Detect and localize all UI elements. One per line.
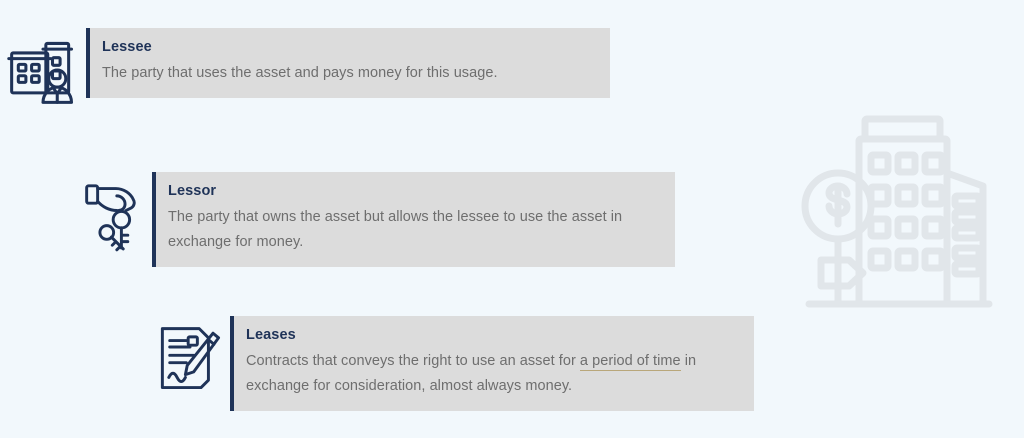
hand-holding-keys-icon bbox=[83, 177, 147, 255]
leases-title: Leases bbox=[246, 326, 740, 346]
contract-document-with-pen-icon bbox=[155, 322, 225, 396]
entry-leases: Leases Contracts that conveys the right … bbox=[150, 316, 754, 411]
lessee-description: The party that uses the asset and pays m… bbox=[102, 61, 498, 86]
lessor-icon-wrap bbox=[78, 172, 152, 260]
office-building-with-dollar-sign-icon bbox=[795, 108, 1010, 313]
lessee-card-body: Lessee The party that uses the asset and… bbox=[90, 28, 512, 98]
lessee-card: Lessee The party that uses the asset and… bbox=[86, 28, 610, 98]
lessor-card: Lessor The party that owns the asset but… bbox=[152, 172, 675, 267]
watermark-building-icon bbox=[795, 108, 1010, 313]
leases-card: Leases Contracts that conveys the right … bbox=[230, 316, 754, 411]
leases-card-body: Leases Contracts that conveys the right … bbox=[234, 316, 754, 411]
lessee-icon-wrap bbox=[0, 28, 86, 114]
lessee-title: Lessee bbox=[102, 38, 498, 58]
lessor-title: Lessor bbox=[168, 182, 661, 202]
leases-text-before: Contracts that conveys the right to use … bbox=[246, 353, 580, 369]
lessor-card-body: Lessor The party that owns the asset but… bbox=[156, 172, 675, 267]
lessor-description: The party that owns the asset but allows… bbox=[168, 205, 661, 256]
leases-text-highlight: a period of time bbox=[580, 353, 681, 371]
leases-icon-wrap bbox=[150, 316, 230, 402]
entry-lessee: Lessee The party that uses the asset and… bbox=[0, 28, 610, 114]
leases-description: Contracts that conveys the right to use … bbox=[246, 349, 740, 400]
entry-lessor: Lessor The party that owns the asset but… bbox=[78, 172, 675, 267]
office-buildings-with-person-icon bbox=[5, 33, 81, 109]
